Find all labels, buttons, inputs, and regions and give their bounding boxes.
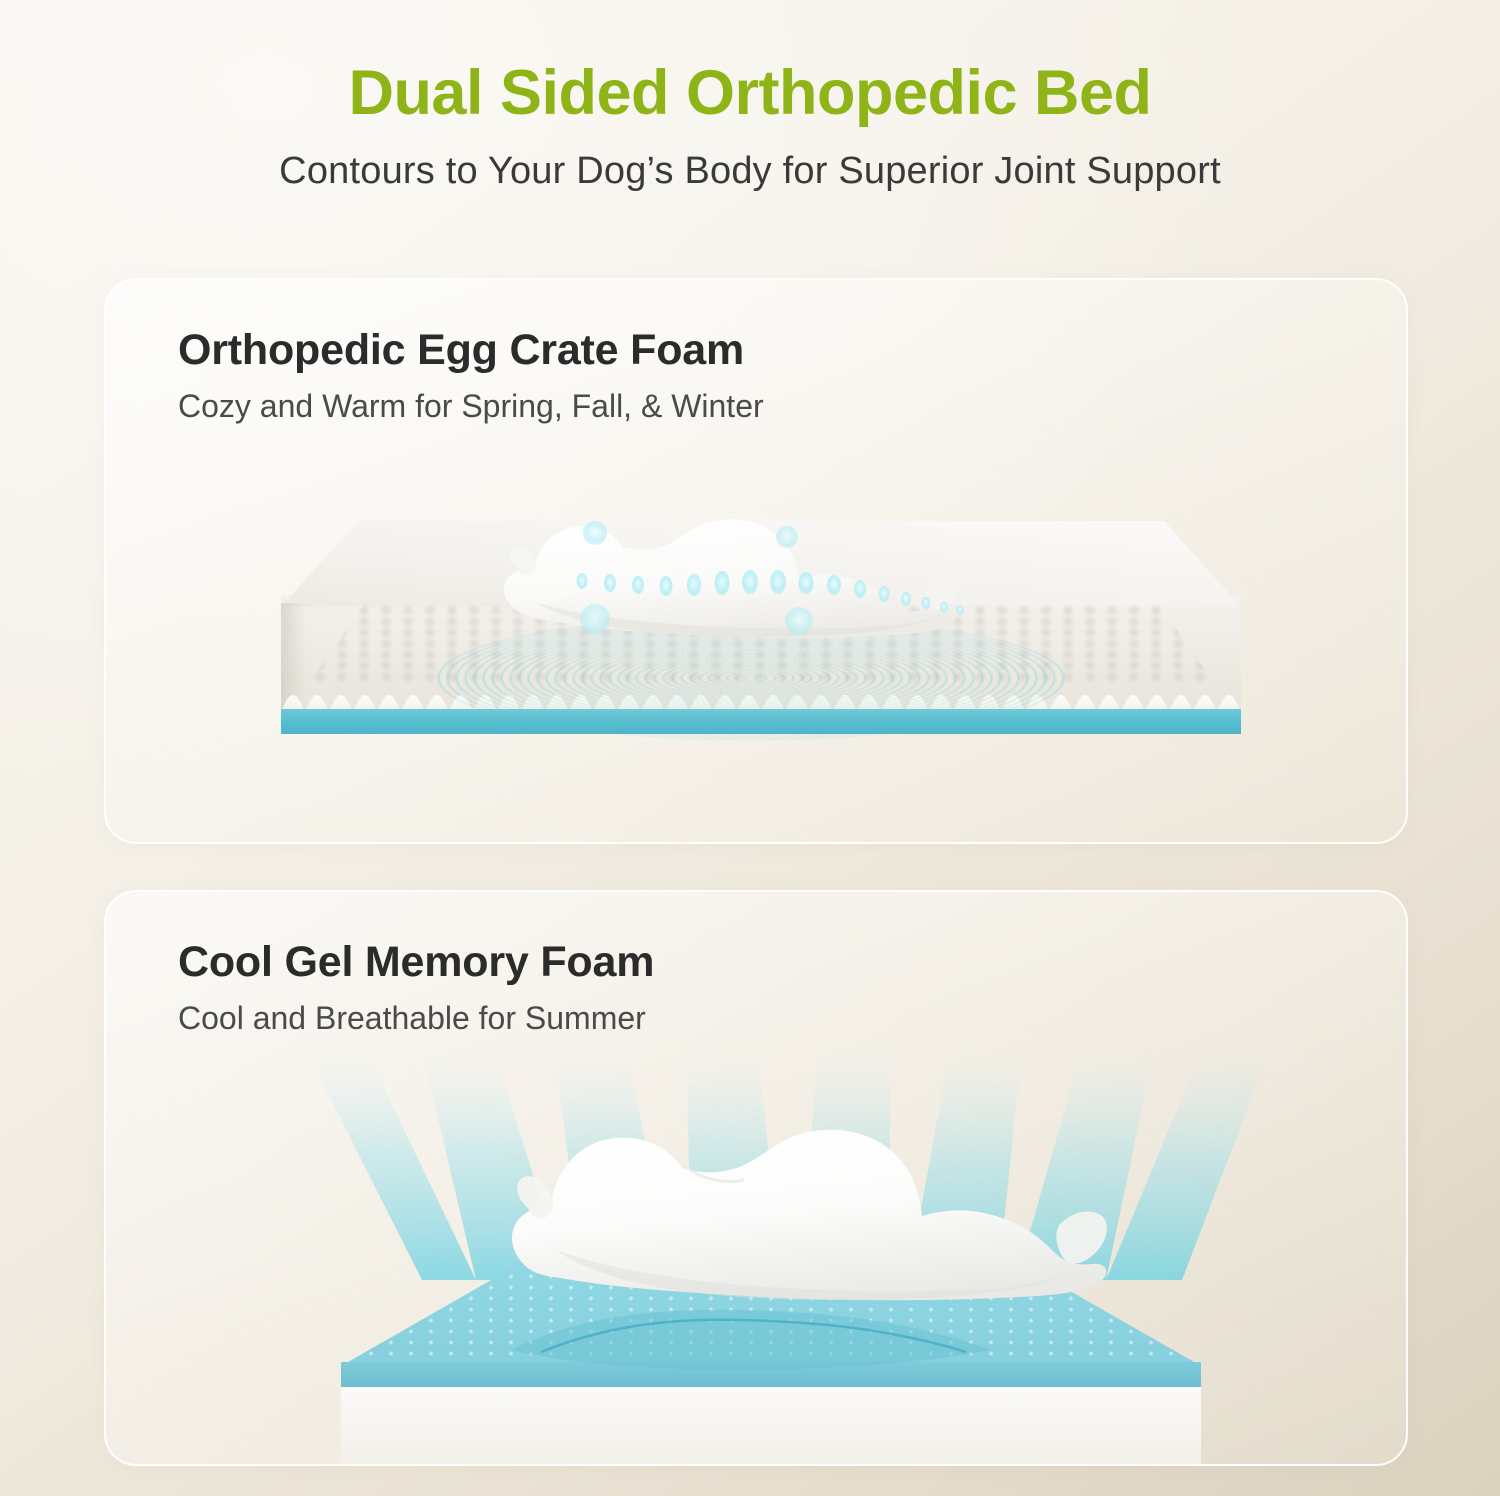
card-1-header: Orthopedic Egg Crate Foam Cozy and Warm … [106,280,1406,424]
foam-slab-top [281,521,1241,607]
page-header: Dual Sided Orthopedic Bed Contours to Yo… [0,0,1500,193]
egg-crate-foam-stage [281,485,1241,785]
gel-foam-front-edge [341,1362,1201,1388]
card-2-subtitle: Cool and Breathable for Summer [178,1001,1406,1036]
dog-figure-side-sleeping [477,493,1077,661]
page-subtitle: Contours to Your Dog’s Body for Superior… [0,151,1500,193]
dog-ear [510,546,536,576]
feature-card-orthopedic-egg-crate-foam: Orthopedic Egg Crate Foam Cozy and Warm … [104,278,1408,844]
dog-figure-side-sleeping [476,1098,1116,1308]
teal-base-strip [281,709,1241,734]
joint-highlight-circles [580,521,813,635]
gel-foam-top-surface [341,1238,1201,1366]
dog-hind-leg [1056,1211,1107,1263]
feature-card-cool-gel-memory-foam: Cool Gel Memory Foam Cool and Breathable… [104,890,1408,1466]
dog-ear [517,1176,553,1218]
card-1-subtitle: Cozy and Warm for Spring, Fall, & Winter [178,389,1406,424]
airflow-rays [326,1050,1216,1280]
egg-crate-zigzag-edge [341,1465,1201,1466]
cool-gel-foam-stage [286,1060,1246,1440]
foam-nub-texture [309,605,1214,683]
card-2-header: Cool Gel Memory Foam Cool and Breathable… [106,892,1406,1036]
gel-compression-dip [341,1238,1201,1388]
dog-hind-leg [926,576,960,610]
gel-perforation-dots [341,1238,1201,1366]
card-2-title: Cool Gel Memory Foam [178,940,1406,985]
foam-slab-front [281,595,1241,713]
white-foam-base [341,1387,1201,1466]
page-title: Dual Sided Orthopedic Bed [0,62,1500,125]
spine-vertebrae-dots [577,570,964,615]
egg-crate-wave-profile [281,673,1241,721]
foam-side-shading [281,603,307,711]
card-1-title: Orthopedic Egg Crate Foam [178,328,1406,373]
pressure-ripple-rings [431,615,1071,741]
